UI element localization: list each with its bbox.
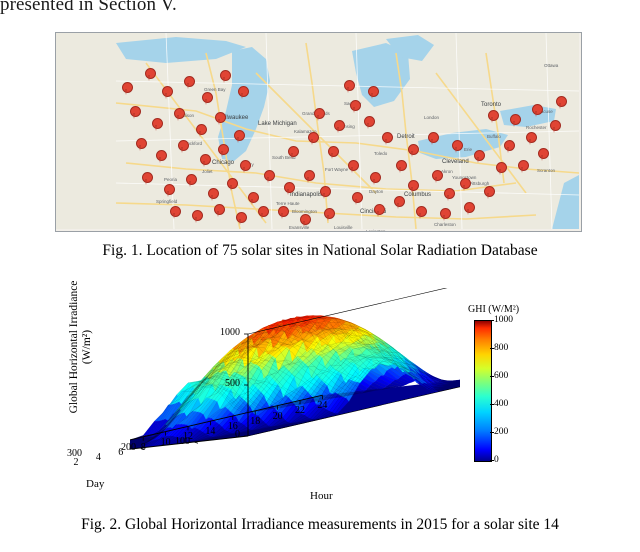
paper-page: presented in Section V. Lake MichiganChi… — [0, 0, 640, 552]
map-label: Lake Michigan — [258, 121, 297, 127]
map-marker-solar-site[interactable] — [440, 208, 449, 221]
map-marker-solar-site[interactable] — [288, 146, 297, 159]
map-label: Springfield — [156, 199, 177, 204]
hour-tick-label: 14 — [202, 426, 218, 437]
map-label: Joliet — [202, 169, 213, 174]
axis-label-day: Day — [86, 478, 104, 490]
map-marker-solar-site[interactable] — [278, 206, 287, 219]
map-marker-solar-site[interactable] — [452, 140, 461, 153]
map-marker-solar-site[interactable] — [464, 202, 473, 215]
hour-tick-label: 10 — [158, 437, 174, 448]
map-label: Dayton — [369, 189, 383, 194]
map-marker-solar-site[interactable] — [328, 146, 337, 159]
hour-tick-label: 4 — [90, 452, 106, 463]
map-marker-solar-site[interactable] — [320, 186, 329, 199]
hour-tick-label: 24 — [314, 400, 330, 411]
map-marker-solar-site[interactable] — [208, 188, 217, 201]
map-marker-solar-site[interactable] — [556, 96, 565, 109]
hour-tick-label: 2 — [68, 457, 84, 468]
map-marker-solar-site[interactable] — [496, 162, 505, 175]
map-marker-solar-site[interactable] — [460, 178, 469, 191]
hour-tick-label: 20 — [270, 411, 286, 422]
map-marker-solar-site[interactable] — [368, 86, 377, 99]
map-marker-solar-site[interactable] — [240, 160, 249, 173]
map-marker-solar-site[interactable] — [314, 108, 323, 121]
map-marker-solar-site[interactable] — [432, 170, 441, 183]
map-marker-solar-site[interactable] — [382, 132, 391, 145]
map-marker-solar-site[interactable] — [474, 150, 483, 163]
map-marker-solar-site[interactable] — [215, 112, 224, 125]
map-marker-solar-site[interactable] — [164, 184, 173, 197]
figure1-caption: Fig. 1. Location of 75 solar sites in Na… — [0, 242, 640, 260]
map-marker-solar-site[interactable] — [234, 130, 243, 143]
colorbar-tick-label: 0 — [494, 455, 499, 465]
map-marker-solar-site[interactable] — [394, 196, 403, 209]
map-label: Louisville — [334, 225, 353, 230]
map-marker-solar-site[interactable] — [238, 86, 247, 99]
axis-label-z-line2: (W/m²) — [81, 272, 94, 422]
map-marker-solar-site[interactable] — [428, 132, 437, 145]
hour-tick-label: 22 — [292, 405, 308, 416]
map-marker-solar-site[interactable] — [504, 140, 513, 153]
map-label: London — [424, 115, 439, 120]
map-marker-solar-site[interactable] — [370, 172, 379, 185]
map-marker-solar-site[interactable] — [350, 100, 359, 113]
hour-tick-label: 18 — [247, 416, 263, 427]
map-label: Cleveland — [442, 159, 469, 165]
map-marker-solar-site[interactable] — [170, 206, 179, 219]
map-canvas[interactable]: Lake MichiganChicagoMilwaukeeDetroitClev… — [56, 33, 581, 231]
map-marker-solar-site[interactable] — [488, 110, 497, 123]
colorbar-tick-label: 1000 — [494, 315, 513, 325]
surface-svg — [130, 288, 460, 488]
map-marker-solar-site[interactable] — [122, 82, 131, 95]
map-vector — [56, 33, 579, 229]
map-marker-solar-site[interactable] — [526, 132, 535, 145]
map-marker-solar-site[interactable] — [308, 132, 317, 145]
axis-label-z: Global Horizontal Irradiance (W/m²) — [68, 272, 94, 422]
map-label: Toledo — [374, 151, 387, 156]
z-tick-label: 500 — [206, 378, 240, 389]
map-marker-solar-site[interactable] — [220, 70, 229, 83]
figure1-map: Lake MichiganChicagoMilwaukeeDetroitClev… — [55, 32, 582, 232]
map-marker-solar-site[interactable] — [196, 124, 205, 137]
figure2-caption: Fig. 2. Global Horizontal Irradiance mea… — [0, 516, 640, 534]
map-marker-solar-site[interactable] — [538, 148, 547, 161]
figure2-surface-plot: Global Horizontal Irradiance (W/m²) GHI … — [60, 282, 580, 512]
map-label: Chicago — [212, 160, 234, 166]
map-label: Indianapolis — [290, 192, 322, 198]
map-marker-solar-site[interactable] — [152, 118, 161, 131]
hour-tick-label: 12 — [180, 431, 196, 442]
map-marker-solar-site[interactable] — [214, 204, 223, 217]
map-marker-solar-site[interactable] — [248, 192, 257, 205]
map-label: Charleston — [434, 222, 456, 227]
map-marker-solar-site[interactable] — [374, 204, 383, 217]
colorbar-tick-label: 200 — [494, 427, 508, 437]
z-tick-label: 1000 — [206, 327, 240, 338]
map-marker-solar-site[interactable] — [348, 160, 357, 173]
map-label: Erie — [464, 147, 472, 152]
map-label: Rochester — [526, 125, 547, 130]
map-marker-solar-site[interactable] — [186, 174, 195, 187]
map-marker-solar-site[interactable] — [408, 144, 417, 157]
map-marker-solar-site[interactable] — [300, 214, 309, 227]
map-marker-solar-site[interactable] — [227, 178, 236, 191]
map-label: Lexington — [366, 229, 386, 231]
map-marker-solar-site[interactable] — [156, 150, 165, 163]
colorbar-tick-label: 800 — [494, 343, 508, 353]
map-label: Scranton — [537, 168, 555, 173]
hour-tick-label: 6 — [113, 447, 129, 458]
axis-label-z-line1: Global Horizontal Irradiance — [68, 272, 81, 422]
map-marker-solar-site[interactable] — [344, 80, 353, 93]
map-marker-solar-site[interactable] — [510, 114, 519, 127]
map-marker-solar-site[interactable] — [174, 108, 183, 121]
map-marker-solar-site[interactable] — [202, 92, 211, 105]
map-marker-solar-site[interactable] — [200, 154, 209, 167]
map-label: Toronto — [481, 102, 501, 108]
map-marker-solar-site[interactable] — [484, 186, 493, 199]
map-marker-solar-site[interactable] — [284, 182, 293, 195]
map-marker-solar-site[interactable] — [352, 192, 361, 205]
map-marker-solar-site[interactable] — [444, 188, 453, 201]
map-marker-solar-site[interactable] — [334, 120, 343, 133]
map-marker-solar-site[interactable] — [162, 86, 171, 99]
colorbar-tick-label: 400 — [494, 399, 508, 409]
map-marker-solar-site[interactable] — [178, 140, 187, 153]
map-marker-solar-site[interactable] — [184, 76, 193, 89]
colorbar-title: GHI (W/M²) — [468, 304, 519, 315]
map-marker-solar-site[interactable] — [145, 68, 154, 81]
hour-tick-label: 8 — [135, 442, 151, 453]
map-marker-solar-site[interactable] — [218, 144, 227, 157]
map-marker-solar-site[interactable] — [408, 180, 417, 193]
map-marker-solar-site[interactable] — [192, 210, 201, 223]
page-number: 14 — [543, 516, 559, 533]
map-marker-solar-site[interactable] — [142, 172, 151, 185]
hour-tick-label: 16 — [225, 421, 241, 432]
map-label: Fort Wayne — [325, 167, 348, 172]
map-marker-solar-site[interactable] — [258, 206, 267, 219]
map-marker-solar-site[interactable] — [532, 104, 541, 117]
map-marker-solar-site[interactable] — [518, 160, 527, 173]
colorbar-gradient — [474, 320, 492, 462]
map-marker-solar-site[interactable] — [264, 170, 273, 183]
map-marker-solar-site[interactable] — [416, 206, 425, 219]
colorbar-tick-label: 600 — [494, 371, 508, 381]
map-marker-solar-site[interactable] — [364, 116, 373, 129]
map-label: Buffalo — [487, 134, 501, 139]
map-marker-solar-site[interactable] — [324, 208, 333, 221]
axis-label-hour: Hour — [310, 490, 333, 502]
body-text-fragment: presented in Section V. — [0, 0, 640, 18]
map-label: Detroit — [397, 134, 415, 140]
map-marker-solar-site[interactable] — [236, 212, 245, 225]
map-marker-solar-site[interactable] — [136, 138, 145, 151]
map-marker-solar-site[interactable] — [396, 160, 405, 173]
surface-plot-canvas — [130, 288, 460, 488]
map-marker-solar-site[interactable] — [130, 106, 139, 119]
colorbar: GHI (W/M²) 10008006004002000 — [468, 320, 568, 480]
map-marker-solar-site[interactable] — [550, 120, 559, 133]
map-marker-solar-site[interactable] — [304, 170, 313, 183]
map-label: Peoria — [164, 177, 177, 182]
map-label: Ottawa — [544, 63, 558, 68]
